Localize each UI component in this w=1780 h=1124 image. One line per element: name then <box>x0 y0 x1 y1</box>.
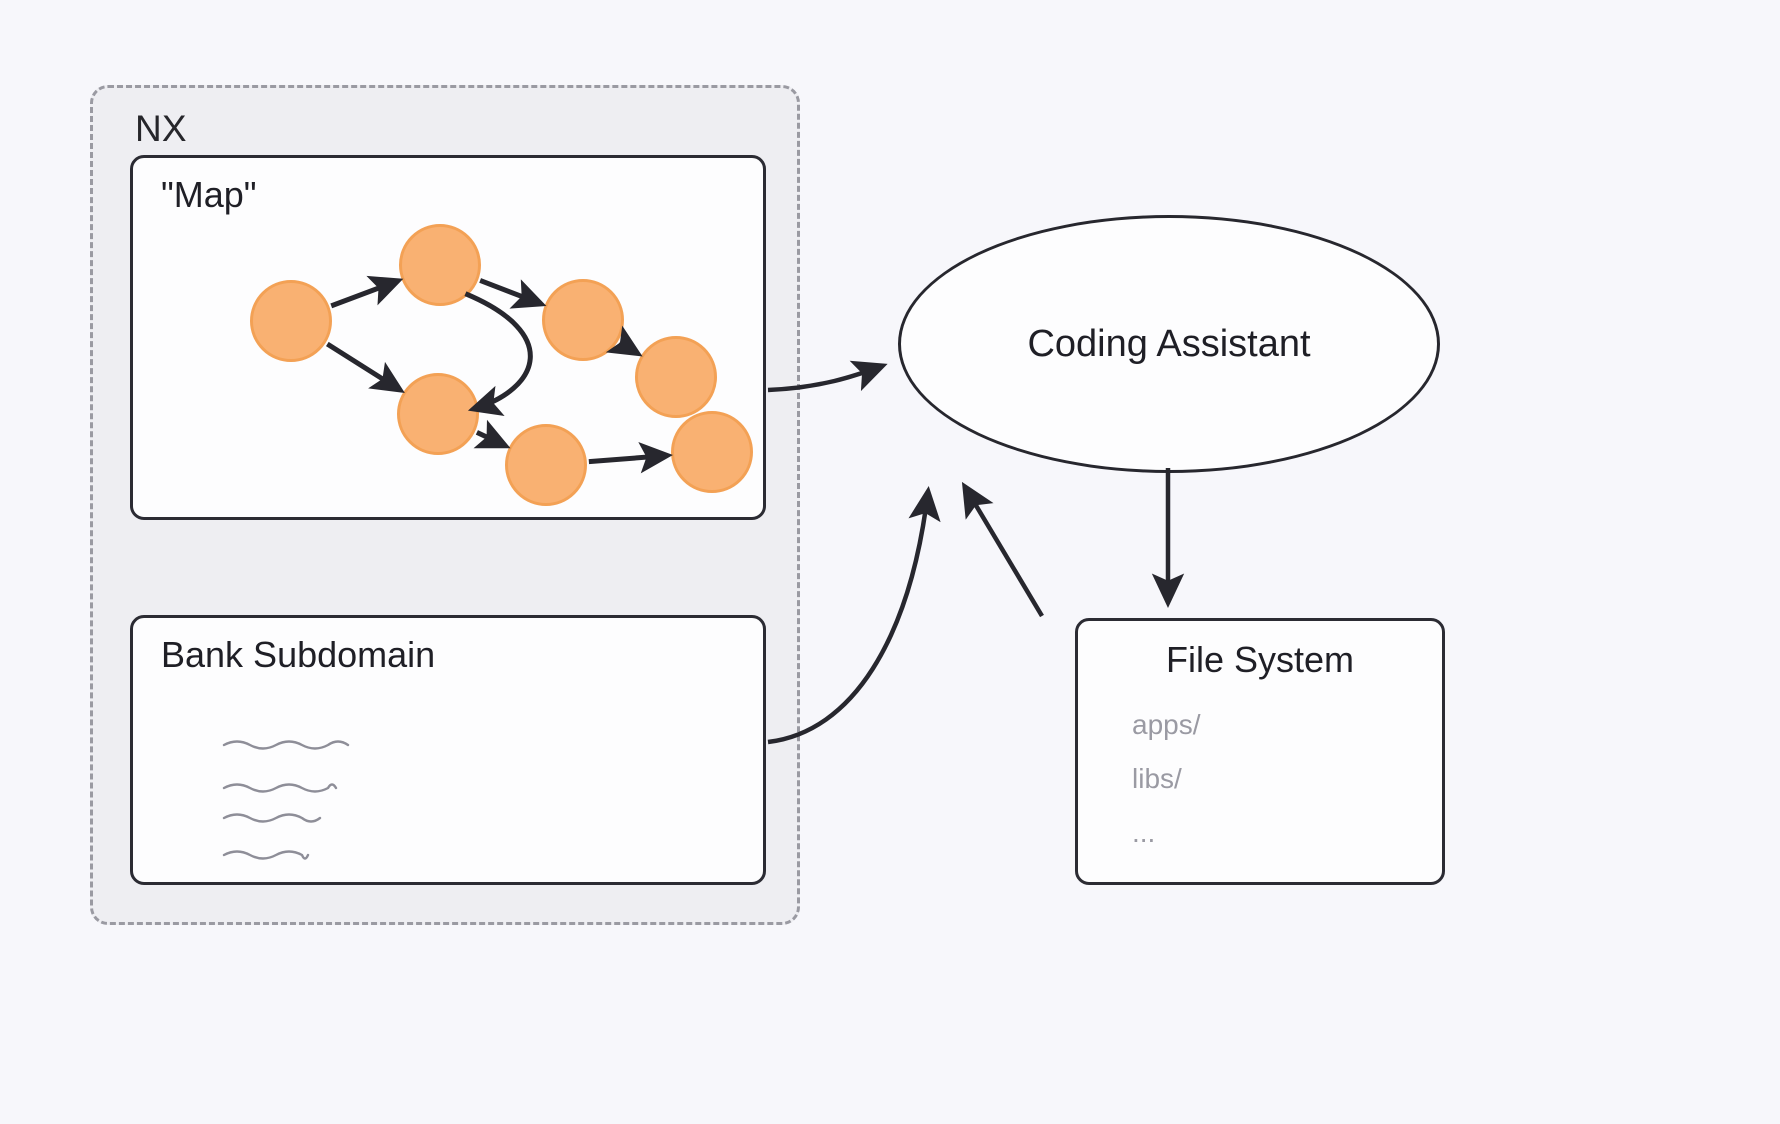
map-graph-node <box>635 336 717 418</box>
file-system-title: File System <box>1078 639 1442 681</box>
file-system-item: libs/ <box>1132 763 1201 795</box>
map-graph-node <box>250 280 332 362</box>
map-graph-nodes <box>0 0 1780 1124</box>
file-system-item: apps/ <box>1132 709 1201 741</box>
map-graph-node <box>542 279 624 361</box>
map-graph-node <box>671 411 753 493</box>
diagram-canvas: NX "Map" Bank Subdomain ... Coding Assis… <box>0 0 1780 1124</box>
map-graph-node <box>399 224 481 306</box>
coding-assistant-label: Coding Assistant <box>1027 323 1310 366</box>
coding-assistant-node: Coding Assistant <box>898 215 1440 473</box>
file-system-item: ... <box>1132 817 1201 849</box>
file-system-item-list: apps/libs/... <box>1132 709 1201 871</box>
file-system-node: File System apps/libs/... <box>1075 618 1445 885</box>
map-graph-node <box>397 373 479 455</box>
map-graph-node <box>505 424 587 506</box>
